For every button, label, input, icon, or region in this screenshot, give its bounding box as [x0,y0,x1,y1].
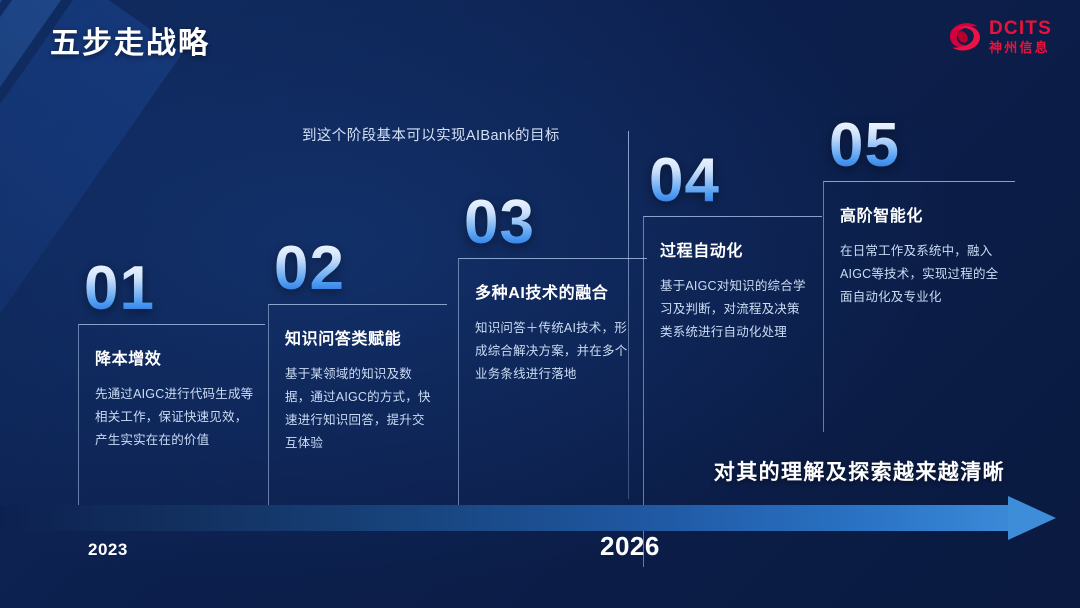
page-title: 五步走战略 [50,18,210,62]
step-number: 05 [829,115,1015,177]
logo-text-cn: 神州信息 [989,41,1052,54]
step-content: 多种AI技术的融合 知识问答＋传统AI技术，形成综合解决方案，并在多个业务条线进… [458,258,647,519]
step-heading: 降本增效 [95,345,255,369]
timeline-year-start: 2023 [88,540,128,560]
logo-text-en: DCITS [989,19,1052,38]
step-card-01: 01 降本增效 先通过AIGC进行代码生成等相关工作，保证快速见效，产生实实在在… [78,258,265,520]
timeline-arrow [0,496,1080,540]
step-number: 02 [274,238,447,300]
step-number: 01 [84,258,265,320]
slide-root: 五步走战略 DCITS 神州信息 到这个阶段基本可以实现AIBank的目标 01… [0,0,1080,608]
step-card-03: 03 多种AI技术的融合 知识问答＋传统AI技术，形成综合解决方案，并在多个业务… [458,192,647,519]
step-description: 基于某领域的知识及数据，通过AIGC的方式，快速进行知识回答，提升交互体验 [285,363,437,456]
arrow-head-icon [1008,496,1056,540]
step-content: 高阶智能化 在日常工作及系统中，融入AIGC等技术，实现过程的全面自动化及专业化 [823,181,1015,432]
step-description: 在日常工作及系统中，融入AIGC等技术，实现过程的全面自动化及专业化 [840,240,1005,309]
arrow-shaft [0,505,1012,531]
step-heading: 知识问答类赋能 [285,325,437,349]
step-description: 先通过AIGC进行代码生成等相关工作，保证快速见效，产生实实在在的价值 [95,383,255,452]
step-heading: 多种AI技术的融合 [475,279,637,303]
step-number: 04 [649,150,822,212]
brand-logo: DCITS 神州信息 [948,19,1052,54]
timeline-arrow-label: 对其的理解及探索越来越清晰 [714,456,1005,486]
callout-note: 到这个阶段基本可以实现AIBank的目标 [302,124,560,145]
step-content: 知识问答类赋能 基于某领域的知识及数据，通过AIGC的方式，快速进行知识回答，提… [268,304,447,520]
timeline-year-end: 2026 [600,531,660,562]
step-heading: 过程自动化 [660,237,812,261]
step-card-05: 05 高阶智能化 在日常工作及系统中，融入AIGC等技术，实现过程的全面自动化及… [823,115,1015,432]
step-description: 知识问答＋传统AI技术，形成综合解决方案，并在多个业务条线进行落地 [475,317,637,386]
step-number: 03 [464,192,647,254]
step-card-02: 02 知识问答类赋能 基于某领域的知识及数据，通过AIGC的方式，快速进行知识回… [268,238,447,520]
step-heading: 高阶智能化 [840,202,1005,226]
step-description: 基于AIGC对知识的综合学习及判断，对流程及决策类系统进行自动化处理 [660,275,812,344]
step-content: 降本增效 先通过AIGC进行代码生成等相关工作，保证快速见效，产生实实在在的价值 [78,324,265,520]
spiral-swoosh-icon [948,21,982,53]
slide-header: 五步走战略 DCITS 神州信息 [0,0,1080,86]
